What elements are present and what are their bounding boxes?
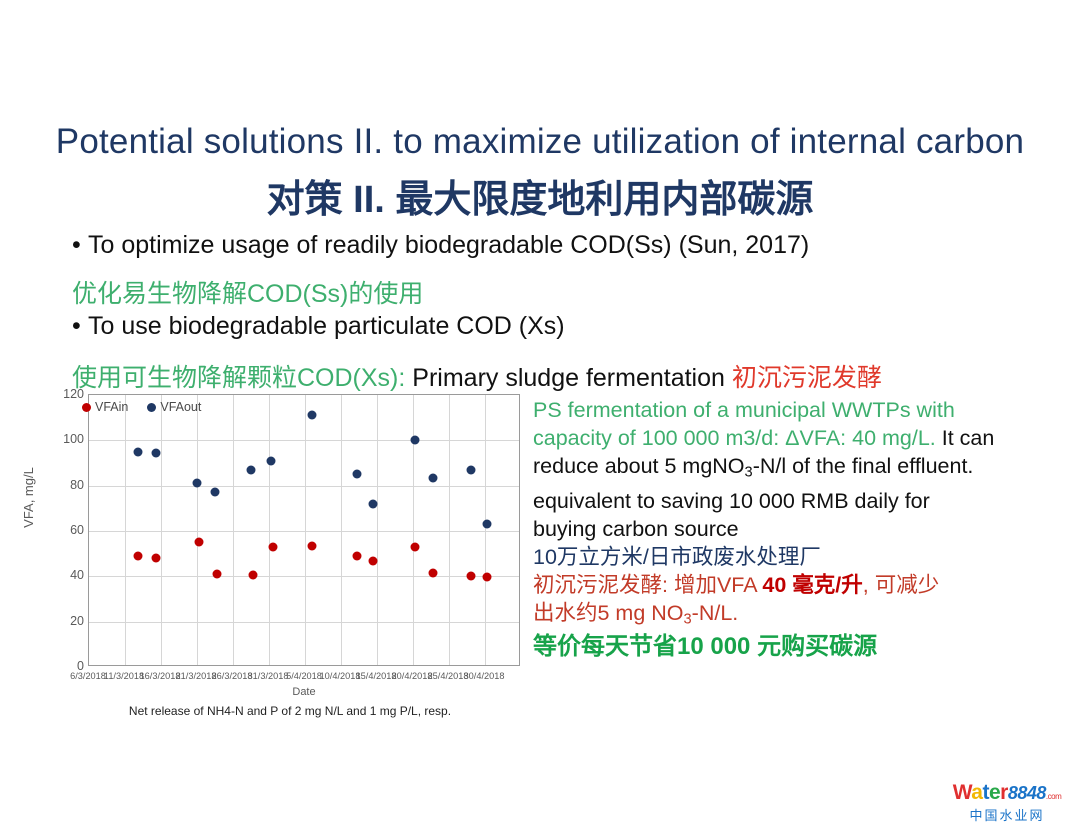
y-axis-tick-label: 60 — [32, 523, 84, 537]
data-point-vfaout — [266, 456, 275, 465]
data-point-vfain — [369, 556, 378, 565]
grid-line-vertical — [449, 395, 450, 665]
right-line-3: reduce about 5 mgNO3-N/l of the final ef… — [533, 452, 1033, 487]
x-axis-tick-label: 21/3/2018 — [176, 671, 217, 681]
bullet-2-chinese-line: 使用可生物降解颗粒COD(Xs): Primary sludge ferment… — [72, 358, 882, 394]
bullet-item-2: •To use biodegradable particulate COD (X… — [72, 312, 565, 341]
x-axis-tick-label: 25/4/2018 — [428, 671, 469, 681]
grid-line-vertical — [197, 395, 198, 665]
data-point-vfaout — [482, 520, 491, 529]
data-point-vfain — [133, 551, 142, 560]
grid-line-horizontal — [89, 440, 519, 441]
right-line-8-a: 出水约5 mg NO — [533, 601, 684, 625]
bullet-1-chinese: 优化易生物降解COD(Ss)的使用 — [72, 274, 423, 310]
data-point-vfain — [268, 542, 277, 551]
chart-legend: VFAinVFAout — [82, 400, 213, 414]
bullet-2-text: To use biodegradable particulate COD (Xs… — [88, 312, 565, 340]
logo-number: 8848 — [1008, 783, 1046, 803]
y-axis-tick-label: 40 — [32, 568, 84, 582]
right-line-2: capacity of 100 000 m3/d: ΔVFA: 40 mg/L.… — [533, 424, 1033, 452]
legend-swatch-icon — [82, 403, 91, 412]
x-axis-tick-label: 31/3/2018 — [248, 671, 289, 681]
grid-line-vertical — [377, 395, 378, 665]
y-axis-tick-label: 100 — [32, 432, 84, 446]
data-point-vfain — [248, 571, 257, 580]
data-point-vfain — [466, 572, 475, 581]
y-axis-title: VFA, mg/L — [21, 467, 36, 528]
logo-letter-w: W — [953, 781, 972, 804]
right-line-1-green: PS fermentation of a municipal WWTPs wit… — [533, 398, 955, 422]
data-point-vfain — [151, 554, 160, 563]
right-line-7-b: , 可减少 — [863, 573, 939, 597]
x-axis-tick-label: 5/4/2018 — [286, 671, 322, 681]
bullet-1-text: To optimize usage of readily biodegradab… — [88, 231, 809, 259]
right-line-7-chinese: 初沉污泥发酵: 增加VFA 40 毫克/升, 可减少 — [533, 571, 1033, 599]
legend-item-vfain: VFAin — [82, 400, 128, 414]
x-axis-tick-label: 16/3/2018 — [140, 671, 181, 681]
page-title-cn: 对策 II. 最大限度地利用内部碳源 — [0, 168, 1080, 223]
right-line-3-a: reduce about 5 mgNO — [533, 454, 745, 478]
data-point-vfaout — [428, 473, 437, 482]
legend-label: VFAout — [160, 400, 201, 414]
right-line-5: buying carbon source — [533, 515, 1033, 543]
explanation-text-block: PS fermentation of a municipal WWTPs wit… — [533, 396, 1033, 661]
right-line-3-b: -N/l of the final effluent. — [753, 454, 974, 478]
data-point-vfain — [212, 570, 221, 579]
data-point-vfaout — [211, 487, 220, 496]
data-point-vfaout — [308, 411, 317, 420]
right-line-8: 出水约5 mg NO3-N/L. — [533, 599, 1033, 634]
grid-line-horizontal — [89, 531, 519, 532]
right-line-3-sub: 3 — [745, 465, 753, 481]
right-line-8-sub: 3 — [684, 611, 692, 627]
y-axis-tick-label: 20 — [32, 614, 84, 628]
bullet-2-cn-black: Primary sludge fermentation — [412, 364, 725, 392]
grid-line-vertical — [161, 395, 162, 665]
legend-item-vfaout: VFAout — [147, 400, 201, 414]
bullet-2-cn-red: 初沉污泥发酵 — [732, 364, 882, 392]
data-point-vfaout — [353, 470, 362, 479]
x-axis-tick-label: 11/3/2018 — [104, 671, 144, 681]
bullet-marker-icon: • — [72, 312, 88, 341]
right-line-8-b: -N/L. — [692, 601, 739, 625]
right-line-9-chinese: 等价每天节省10 000 元购买碳源 — [533, 633, 1033, 661]
data-point-vfaout — [466, 465, 475, 474]
right-line-6-chinese: 10万立方米/日市政废水处理厂 — [533, 543, 1033, 571]
x-axis-tick-label: 15/4/2018 — [356, 671, 397, 681]
y-axis-tick-label: 120 — [32, 387, 84, 401]
page-title-en: Potential solutions II. to maximize util… — [0, 122, 1080, 162]
x-axis-tick-label: 6/3/2018 — [70, 671, 106, 681]
x-axis-tick-label: 20/4/2018 — [392, 671, 433, 681]
chart-plot-area — [88, 394, 520, 666]
legend-label: VFAin — [95, 400, 128, 414]
data-point-vfaout — [193, 479, 202, 488]
slide-canvas: Potential solutions II. to maximize util… — [0, 0, 1080, 834]
right-line-1: PS fermentation of a municipal WWTPs wit… — [533, 396, 1033, 424]
x-axis-title: Date — [88, 686, 520, 698]
data-point-vfain — [428, 569, 437, 578]
right-line-7-bold: 40 毫克/升 — [762, 573, 862, 597]
right-line-2-green: capacity of 100 000 m3/d: ΔVFA: 40 mg/L. — [533, 426, 936, 450]
right-line-2-black: It can — [936, 426, 995, 450]
right-line-4: equivalent to saving 10 000 RMB daily fo… — [533, 487, 1033, 515]
y-axis-ticks: 020406080100120 — [30, 394, 84, 666]
logo-chinese: 中国水业网 — [948, 808, 1066, 824]
x-axis-tick-label: 26/3/2018 — [212, 671, 253, 681]
data-point-vfain — [353, 551, 362, 560]
grid-line-horizontal — [89, 622, 519, 623]
y-axis-tick-label: 80 — [32, 478, 84, 492]
grid-line-vertical — [269, 395, 270, 665]
data-point-vfain — [482, 573, 491, 582]
data-point-vfaout — [369, 500, 378, 509]
logo-letter-a: a — [971, 781, 982, 804]
grid-line-horizontal — [89, 486, 519, 487]
grid-line-vertical — [125, 395, 126, 665]
data-point-vfain — [194, 538, 203, 547]
data-point-vfaout — [133, 447, 142, 456]
vfa-scatter-chart: 020406080100120 VFA, mg/L Date Net relea… — [30, 390, 500, 720]
right-line-7-a: 初沉污泥发酵: 增加VFA — [533, 573, 762, 597]
bullet-2-cn-green: 使用可生物降解颗粒COD(Xs): — [72, 364, 405, 392]
chart-note: Net release of NH4-N and P of 2 mg N/L a… — [80, 704, 500, 718]
logo-dotcom: .com — [1046, 792, 1061, 801]
data-point-vfain — [410, 543, 419, 552]
grid-line-vertical — [233, 395, 234, 665]
data-point-vfain — [308, 541, 317, 550]
grid-line-vertical — [341, 395, 342, 665]
logo-wordmark: Water8848.com — [948, 782, 1066, 808]
logo-letter-r: r — [1000, 781, 1008, 804]
logo-letter-e: e — [989, 781, 1000, 804]
data-point-vfaout — [247, 465, 256, 474]
x-axis-tick-label: 30/4/2018 — [464, 671, 505, 681]
legend-swatch-icon — [147, 403, 156, 412]
grid-line-vertical — [305, 395, 306, 665]
grid-line-horizontal — [89, 576, 519, 577]
grid-line-vertical — [485, 395, 486, 665]
data-point-vfaout — [151, 448, 160, 457]
data-point-vfaout — [410, 436, 419, 445]
bullet-marker-icon: • — [72, 231, 88, 260]
water8848-logo: Water8848.com 中国水业网 — [948, 782, 1066, 826]
x-axis-tick-label: 10/4/2018 — [320, 671, 361, 681]
bullet-item-1: •To optimize usage of readily biodegrada… — [72, 231, 809, 260]
